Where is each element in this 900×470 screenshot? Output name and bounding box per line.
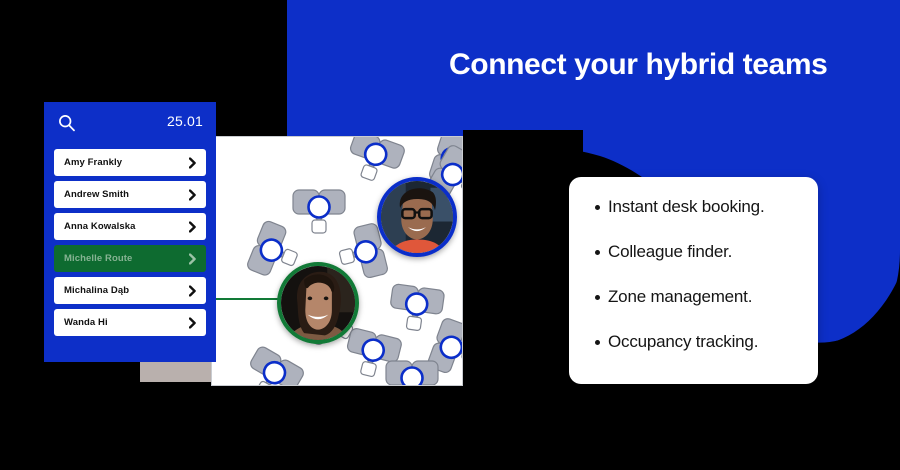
bullet-dot-icon (595, 340, 600, 345)
floorplan-desks (212, 137, 463, 386)
chevron-right-icon (189, 253, 196, 264)
person-name: Wanda Hi (64, 317, 108, 328)
feature-list-card: Instant desk booking. Colleague finder. … (569, 177, 818, 384)
chevron-right-icon (189, 317, 196, 328)
list-item[interactable]: Amy Frankly (54, 149, 206, 176)
people-directory-panel[interactable]: 25.01 Amy Frankly Andrew Smith Anna Kowa… (44, 102, 216, 362)
person-name: Amy Frankly (64, 157, 122, 168)
bullet-dot-icon (595, 295, 600, 300)
desk-group (239, 137, 463, 386)
chevron-right-icon (189, 285, 196, 296)
bullet-dot-icon (595, 205, 600, 210)
feature-item: Occupancy tracking. (595, 331, 818, 376)
people-list: Amy Frankly Andrew Smith Anna Kowalska M… (54, 149, 206, 341)
list-item[interactable]: Andrew Smith (54, 181, 206, 208)
chevron-right-icon (189, 189, 196, 200)
slide-canvas: Connect your hybrid teams (0, 0, 900, 470)
feature-label: Occupancy tracking. (608, 331, 758, 353)
office-floor-plan[interactable] (211, 136, 463, 386)
list-item-selected[interactable]: Michelle Route (54, 245, 206, 272)
feature-label: Zone management. (608, 286, 752, 308)
chevron-right-icon (189, 157, 196, 168)
panel-date: 25.01 (167, 113, 203, 129)
list-item[interactable]: Anna Kowalska (54, 213, 206, 240)
background-black-gap (463, 130, 583, 400)
panel-header: 25.01 (44, 102, 216, 144)
list-item[interactable]: Michalina Dąb (54, 277, 206, 304)
avatar-photo-man (381, 181, 453, 253)
search-icon[interactable] (58, 114, 76, 132)
feature-label: Colleague finder. (608, 241, 732, 263)
feature-item: Zone management. (595, 286, 818, 331)
person-name: Michalina Dąb (64, 285, 129, 296)
list-item[interactable]: Wanda Hi (54, 309, 206, 336)
background-black-bottom (0, 386, 900, 470)
selection-connector-line (211, 298, 281, 300)
person-name: Michelle Route (64, 253, 132, 264)
avatar-blue-ring[interactable] (377, 177, 457, 257)
chevron-right-icon (189, 221, 196, 232)
feature-label: Instant desk booking. (608, 196, 764, 218)
feature-item: Colleague finder. (595, 241, 818, 286)
avatar-green-ring[interactable] (277, 262, 359, 344)
feature-item: Instant desk booking. (595, 196, 818, 241)
page-title: Connect your hybrid teams (449, 48, 827, 82)
person-name: Andrew Smith (64, 189, 129, 200)
person-name: Anna Kowalska (64, 221, 136, 232)
bullet-dot-icon (595, 250, 600, 255)
avatar-photo-woman (281, 266, 355, 340)
